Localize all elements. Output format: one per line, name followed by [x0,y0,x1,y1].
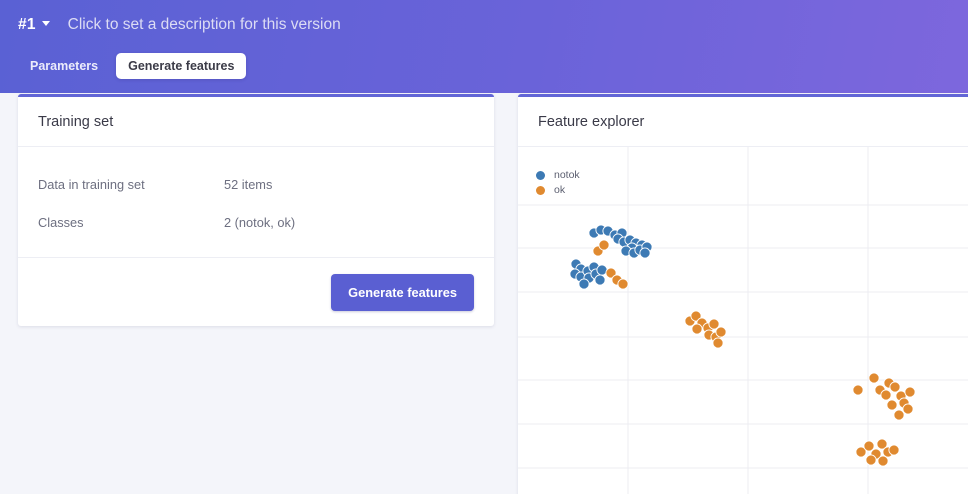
version-row: #1 Click to set a description for this v… [18,16,341,34]
scatter-point[interactable] [905,387,915,397]
scatter-point[interactable] [595,275,605,285]
scatter-point[interactable] [894,410,904,420]
scatter-legend: notokok [536,169,580,196]
feature-explorer-title: Feature explorer [518,97,968,147]
generate-features-button[interactable]: Generate features [331,274,474,311]
scatter-point[interactable] [864,441,874,451]
row-label-classes: Classes [38,215,224,230]
scatter-point[interactable] [713,338,723,348]
training-set-card: Training set Data in training set 52 ite… [18,94,494,326]
scatter-point[interactable] [579,279,589,289]
legend-item-ok[interactable]: ok [536,184,580,196]
page-root: #1 Click to set a description for this v… [0,0,968,494]
row-value-classes: 2 (notok, ok) [224,215,295,230]
scatter-point[interactable] [869,373,879,383]
scatter-point[interactable] [889,445,899,455]
header-tabs: Parameters Generate features [18,53,246,79]
legend-label: ok [554,184,565,196]
feature-explorer-plot[interactable]: notokok [518,147,968,494]
scatter-point[interactable] [903,404,913,414]
scatter-point[interactable] [692,324,702,334]
training-set-footer: Generate features [18,257,494,326]
plot-gridlines [518,147,968,494]
scatter-series-ok [593,240,915,466]
scatter-point[interactable] [887,400,897,410]
scatter-series-notok [570,225,652,289]
scatter-point[interactable] [853,385,863,395]
scatter-point[interactable] [709,319,719,329]
legend-label: notok [554,169,580,181]
version-description-placeholder[interactable]: Click to set a description for this vers… [68,16,341,34]
scatter-point[interactable] [890,382,900,392]
scatter-point[interactable] [599,240,609,250]
table-row: Data in training set 52 items [38,165,474,203]
scatter-point[interactable] [640,248,650,258]
row-label-data-in-training-set: Data in training set [38,177,224,192]
row-value-data-in-training-set: 52 items [224,177,272,192]
scatter-point[interactable] [878,456,888,466]
legend-item-notok[interactable]: notok [536,169,580,181]
scatter-point[interactable] [618,279,628,289]
page-header: #1 Click to set a description for this v… [0,0,968,93]
chevron-down-icon[interactable] [42,21,50,26]
training-set-title: Training set [18,97,494,147]
legend-swatch-icon [536,171,545,180]
version-number[interactable]: #1 [18,16,36,34]
table-row: Classes 2 (notok, ok) [38,203,474,241]
feature-explorer-card: Feature explorer notokok [518,94,968,494]
scatter-point[interactable] [716,327,726,337]
scatter-plot-svg[interactable] [518,147,968,494]
training-set-details: Data in training set 52 items Classes 2 … [18,147,494,255]
tab-parameters[interactable]: Parameters [18,53,110,79]
tab-generate-features[interactable]: Generate features [116,53,246,79]
scatter-point[interactable] [881,390,891,400]
scatter-point[interactable] [866,455,876,465]
legend-swatch-icon [536,186,545,195]
